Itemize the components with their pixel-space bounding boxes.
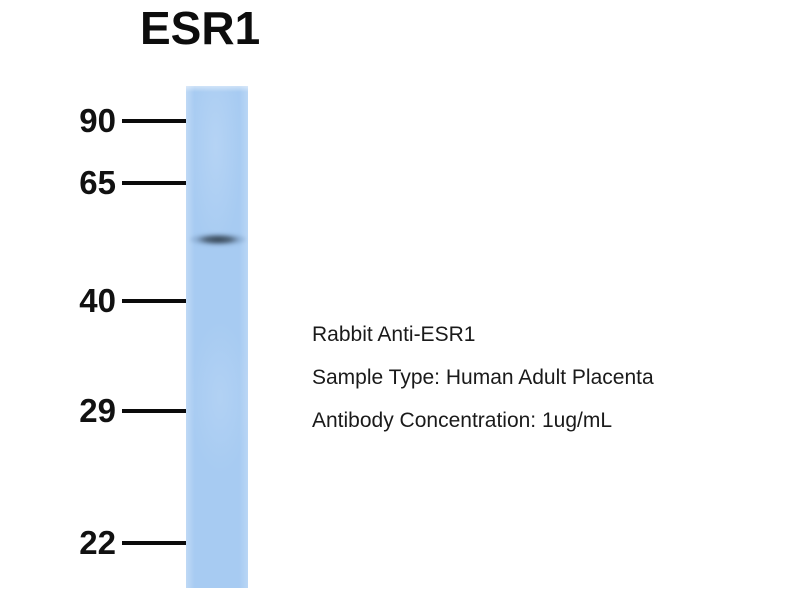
- western-blot-figure: ESR1 90 65 40 29 22 Rabbit Anti-ESR1 Sa: [0, 0, 800, 600]
- antibody-concentration-label: Antibody Concentration: 1ug/mL: [312, 408, 782, 433]
- ladder-tick-icon: [122, 541, 186, 545]
- ladder-marker-label: 40: [58, 284, 116, 318]
- protein-band: [190, 232, 246, 247]
- ladder-marker-29: 29: [58, 394, 188, 428]
- ladder-marker-65: 65: [58, 166, 188, 200]
- ladder-marker-90: 90: [58, 104, 188, 138]
- ladder-tick-icon: [122, 119, 186, 123]
- antibody-label: Rabbit Anti-ESR1: [312, 322, 782, 347]
- ladder-marker-label: 22: [58, 526, 116, 560]
- page-title: ESR1: [140, 2, 260, 54]
- gel-lane: [186, 86, 248, 588]
- ladder-tick-icon: [122, 299, 186, 303]
- ladder-marker-40: 40: [58, 284, 188, 318]
- sample-type-label: Sample Type: Human Adult Placenta: [312, 365, 782, 390]
- ladder-marker-label: 29: [58, 394, 116, 428]
- ladder-tick-icon: [122, 181, 186, 185]
- ladder-marker-label: 65: [58, 166, 116, 200]
- ladder-marker-label: 90: [58, 104, 116, 138]
- ladder-marker-22: 22: [58, 526, 188, 560]
- annotation-block: Rabbit Anti-ESR1 Sample Type: Human Adul…: [312, 322, 782, 433]
- ladder-tick-icon: [122, 409, 186, 413]
